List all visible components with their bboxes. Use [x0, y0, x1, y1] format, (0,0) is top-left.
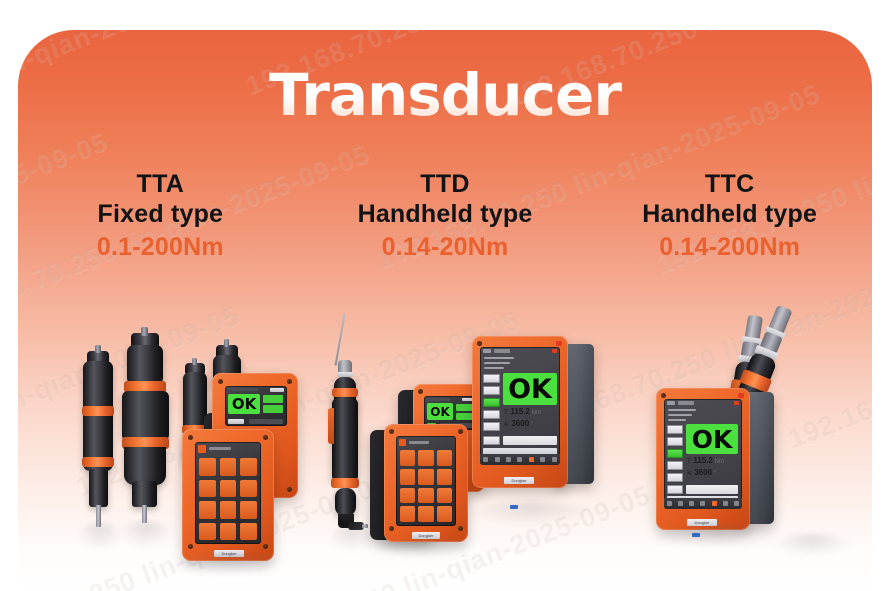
toolbar-icon[interactable]	[734, 501, 739, 506]
app-icon[interactable]	[418, 488, 433, 504]
tester-display-screen: OK T: 115.2 Nm A: 3600 °	[480, 347, 560, 465]
toolbar-icon[interactable]	[723, 501, 728, 506]
mode-button-selected[interactable]	[483, 398, 500, 407]
app-icon[interactable]	[240, 458, 257, 476]
mode-button[interactable]	[483, 410, 500, 419]
torque-label: T:	[687, 459, 692, 465]
angle-unit: °	[531, 422, 533, 428]
toolbar-icon[interactable]	[540, 457, 545, 462]
status-field	[503, 436, 557, 445]
keypad-screen	[195, 442, 261, 544]
column-type: Fixed type	[18, 200, 303, 230]
mode-button[interactable]	[483, 386, 500, 395]
angle-readout: A: 3600 °	[504, 419, 533, 428]
torque-readout: T: 115.2 Nm	[504, 407, 541, 416]
toolbar-icon[interactable]	[700, 501, 705, 506]
app-icon[interactable]	[400, 469, 415, 485]
product-group-ttd: OK	[310, 312, 595, 562]
app-icon[interactable]	[437, 506, 452, 522]
app-icon[interactable]	[418, 469, 433, 485]
tester-display-screen: OK T: 115.2 Nm A: 3600 °	[664, 399, 742, 509]
toolbar-icon[interactable]	[483, 457, 488, 462]
toolbar-icon-active[interactable]	[529, 457, 534, 462]
handheld-tester-ttd: OK T: 115.2 Nm A: 3600 °	[472, 336, 594, 506]
app-icon[interactable]	[199, 501, 216, 519]
page-title: Transducer	[18, 66, 872, 124]
handheld-tester-ttc: OK T: 115.2 Nm A: 3600 °	[656, 388, 782, 534]
ok-status-badge: OK	[686, 424, 738, 454]
toolbar-icon[interactable]	[667, 501, 672, 506]
torque-label: T:	[504, 410, 509, 416]
column-type: Handheld type	[303, 200, 588, 230]
app-icon[interactable]	[220, 523, 237, 541]
app-icon[interactable]	[220, 501, 237, 519]
column-range: 0.14-20Nm	[303, 229, 588, 267]
ok-display-screen: OK	[225, 386, 287, 426]
app-icon[interactable]	[220, 480, 237, 498]
app-icon[interactable]	[400, 488, 415, 504]
brand-plate: Dongker	[687, 519, 717, 526]
toolbar-icon[interactable]	[506, 457, 511, 462]
angle-label: A:	[687, 471, 693, 477]
mode-button[interactable]	[667, 461, 683, 470]
column-range: 0.1-200Nm	[18, 229, 303, 267]
mode-button[interactable]	[667, 473, 683, 482]
mode-button[interactable]	[667, 437, 683, 446]
torque-value: 115.2	[693, 456, 713, 465]
toolbar-icon[interactable]	[678, 501, 683, 506]
status-field	[686, 485, 738, 494]
app-icon[interactable]	[199, 523, 216, 541]
app-icon[interactable]	[437, 469, 452, 485]
app-icon[interactable]	[437, 450, 452, 466]
column-code: TTC	[587, 170, 872, 200]
mode-button-selected[interactable]	[667, 449, 683, 458]
app-icon[interactable]	[418, 506, 433, 522]
toolbar-icon[interactable]	[552, 457, 557, 462]
column-type: Handheld type	[587, 200, 872, 230]
mode-button[interactable]	[667, 425, 683, 434]
status-button[interactable]	[667, 485, 683, 494]
ok-status-badge: OK	[427, 403, 453, 420]
column-ttd: TTD Handheld type 0.14-20Nm	[303, 170, 588, 267]
toolbar-icon[interactable]	[495, 457, 500, 462]
product-group-ttc: OK T: 115.2 Nm A: 3600 °	[638, 312, 872, 562]
column-code: TTD	[303, 170, 588, 200]
status-button[interactable]	[483, 436, 500, 445]
column-code: TTA	[18, 170, 303, 200]
brand-plate: Dongker	[504, 477, 534, 484]
product-group-tta: OK	[32, 325, 282, 560]
torque-unit: Nm	[532, 410, 541, 416]
torque-readout: T: 115.2 Nm	[687, 456, 724, 465]
app-icon[interactable]	[418, 450, 433, 466]
mode-button[interactable]	[483, 422, 500, 431]
app-icon[interactable]	[400, 450, 415, 466]
angle-value: 3600	[511, 419, 529, 428]
screen-toolbar	[664, 498, 742, 509]
screen-toolbar	[480, 454, 560, 465]
poster-canvas: 192.168.70.250 lin-qian-2025-09-05192.16…	[0, 0, 891, 591]
handheld-keypad-unit: Dongker	[384, 424, 468, 542]
app-icon[interactable]	[240, 480, 257, 498]
angle-unit: °	[714, 471, 716, 477]
column-ttc: TTC Handheld type 0.14-200Nm	[587, 170, 872, 267]
ok-status-badge: OK	[228, 394, 260, 414]
app-icon[interactable]	[240, 501, 257, 519]
toolbar-icon[interactable]	[517, 457, 522, 462]
angle-value: 3600	[694, 468, 712, 477]
angle-readout: A: 3600 °	[687, 468, 716, 477]
mode-button[interactable]	[483, 374, 500, 383]
torque-value: 115.2	[510, 407, 530, 416]
app-icon[interactable]	[199, 458, 216, 476]
column-tta: TTA Fixed type 0.1-200Nm	[18, 170, 303, 267]
app-icon[interactable]	[240, 523, 257, 541]
app-icon[interactable]	[400, 506, 415, 522]
torque-unit: Nm	[715, 459, 724, 465]
handheld-keypad-unit: Dongker	[182, 429, 274, 561]
column-range: 0.14-200Nm	[587, 229, 872, 267]
product-card: 192.168.70.250 lin-qian-2025-09-05192.16…	[18, 30, 872, 591]
app-icon[interactable]	[199, 480, 216, 498]
toolbar-icon[interactable]	[689, 501, 694, 506]
app-icon[interactable]	[437, 488, 452, 504]
ok-status-badge: OK	[503, 373, 557, 405]
column-headings: TTA Fixed type 0.1-200Nm TTD Handheld ty…	[18, 170, 872, 267]
toolbar-icon-active[interactable]	[712, 501, 717, 506]
keypad-screen	[396, 436, 456, 526]
app-icon[interactable]	[220, 458, 237, 476]
angle-label: A:	[504, 422, 510, 428]
